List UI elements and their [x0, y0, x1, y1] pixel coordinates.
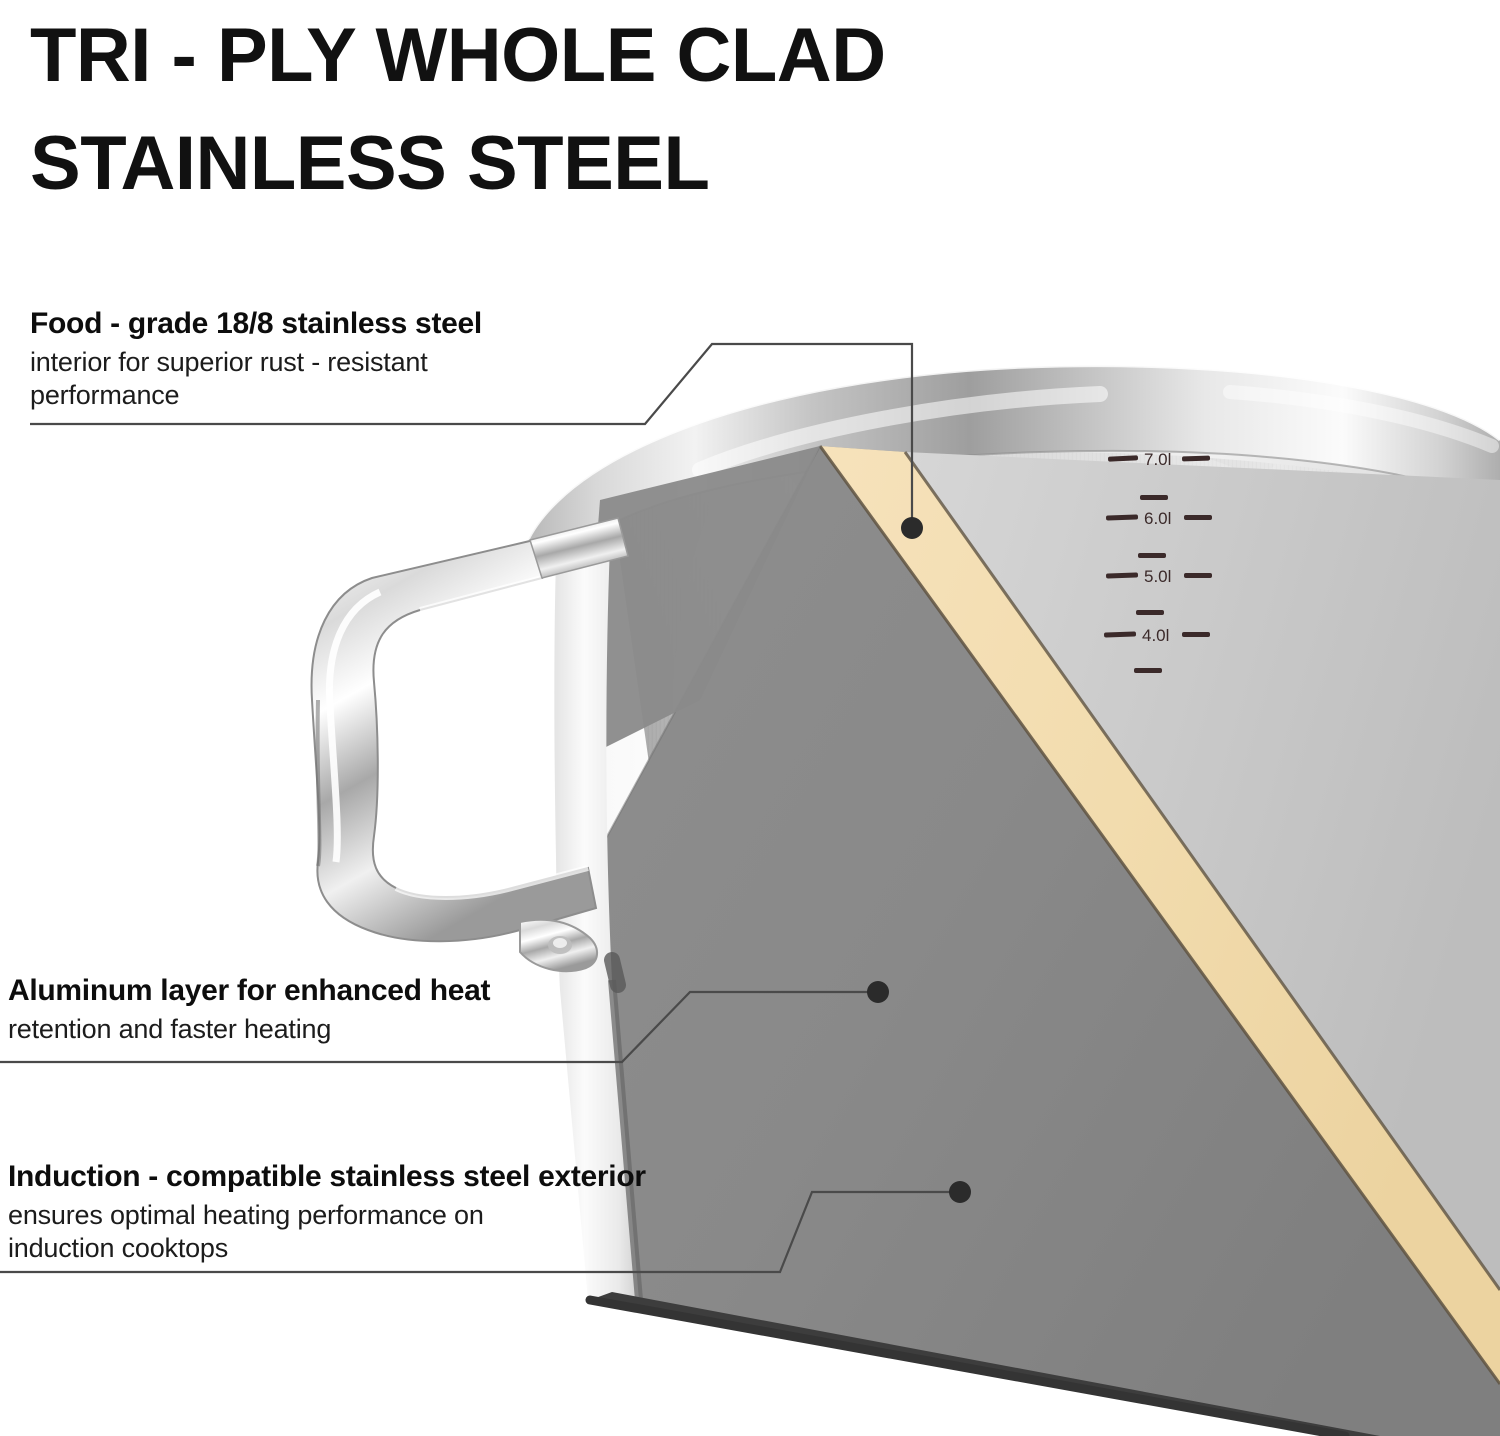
leader-dot-2 [867, 981, 889, 1003]
infographic-page: 7.0l 6.0l 5.0l 4.0l [0, 0, 1500, 1436]
callout-induction-exterior: Induction - compatible stainless steel e… [8, 1158, 646, 1264]
svg-text:5.0l: 5.0l [1144, 567, 1171, 586]
svg-text:6.0l: 6.0l [1144, 509, 1171, 528]
leader-dot-3 [949, 1181, 971, 1203]
handle-loop [312, 540, 596, 941]
pot-base-edge [590, 1292, 1380, 1436]
pot-handle [312, 518, 628, 971]
callout-3-heading: Induction - compatible stainless steel e… [8, 1158, 646, 1196]
cutaway-aluminum-layer [820, 446, 1500, 1384]
cutaway-interior-steel-layer [905, 452, 1500, 1290]
svg-text:7.0l: 7.0l [1144, 450, 1171, 469]
callout-food-grade-interior: Food - grade 18/8 stainless steel interi… [30, 305, 482, 411]
handle-rivet [520, 920, 597, 971]
callout-2-body: retention and faster heating [8, 1013, 490, 1045]
svg-text:4.0l: 4.0l [1142, 626, 1169, 645]
callout-3-body: ensures optimal heating performance on i… [8, 1199, 646, 1264]
pot-body-outer [556, 450, 1500, 1436]
measurement-marks: 7.0l 6.0l 5.0l 4.0l [1104, 450, 1212, 673]
cutaway-upper-shadow [580, 446, 820, 760]
callout-1-heading: Food - grade 18/8 stainless steel [30, 305, 482, 343]
handle-upper-mount [530, 518, 628, 578]
pot-outer-right-wall [1408, 556, 1500, 1436]
callout-aluminum-core: Aluminum layer for enhanced heat retenti… [8, 972, 490, 1046]
leader-dot-1 [901, 517, 923, 539]
callout-1-body: interior for superior rust - resistant p… [30, 346, 482, 411]
cutaway-exterior-steel-layer [556, 446, 1500, 1436]
pot-rim [518, 366, 1500, 580]
callout-2-heading: Aluminum layer for enhanced heat [8, 972, 490, 1010]
page-title: TRI - PLY WHOLE CLAD STAINLESS STEEL [30, 2, 1230, 218]
